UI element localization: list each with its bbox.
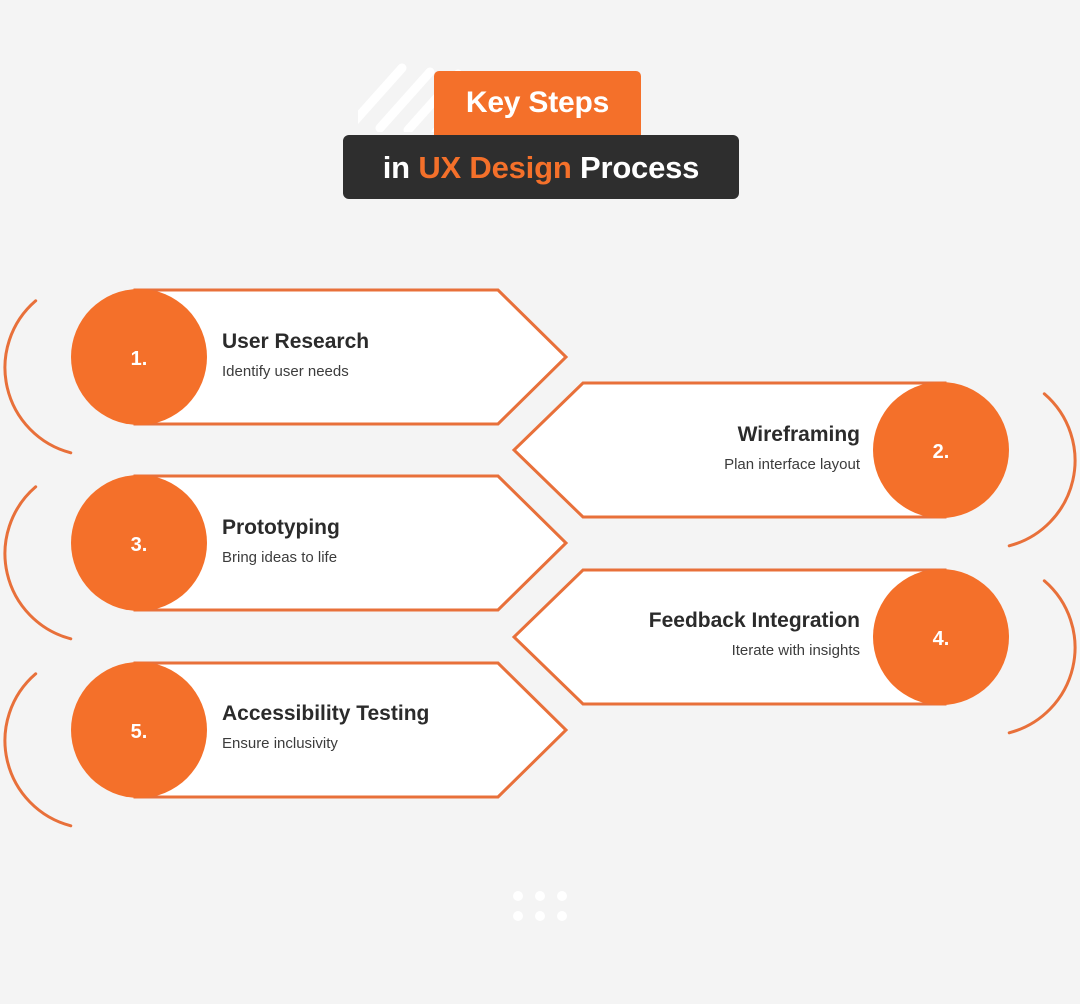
footer-dot bbox=[535, 891, 545, 901]
step-title-2: Wireframing bbox=[590, 423, 860, 447]
step-title-3: Prototyping bbox=[222, 516, 492, 540]
infographic-canvas: Key Steps in UX Design Process bbox=[0, 0, 1080, 1004]
step-arc-3 bbox=[0, 487, 71, 650]
step-text-1: User Research Identify user needs bbox=[222, 330, 492, 380]
step-title-4: Feedback Integration bbox=[570, 609, 860, 633]
step-arc-4 bbox=[1009, 581, 1080, 744]
footer-dot bbox=[557, 891, 567, 901]
step-number-2: 2. bbox=[911, 442, 971, 462]
step-subtitle-2: Plan interface layout bbox=[590, 456, 860, 473]
footer-dot bbox=[557, 911, 567, 921]
step-number-3: 3. bbox=[109, 535, 169, 555]
step-subtitle-1: Identify user needs bbox=[222, 363, 492, 380]
footer-dot-grid bbox=[513, 891, 567, 921]
step-arc-1 bbox=[0, 301, 71, 464]
step-text-4: Feedback Integration Iterate with insigh… bbox=[570, 609, 860, 659]
footer-dot bbox=[513, 911, 523, 921]
footer-dot bbox=[513, 891, 523, 901]
step-subtitle-3: Bring ideas to life bbox=[222, 549, 492, 566]
step-number-5: 5. bbox=[109, 722, 169, 742]
step-title-5: Accessibility Testing bbox=[222, 702, 512, 726]
step-title-1: User Research bbox=[222, 330, 492, 354]
step-arc-2 bbox=[1009, 394, 1080, 557]
step-subtitle-5: Ensure inclusivity bbox=[222, 735, 512, 752]
step-text-5: Accessibility Testing Ensure inclusivity bbox=[222, 702, 512, 752]
step-text-3: Prototyping Bring ideas to life bbox=[222, 516, 492, 566]
step-text-2: Wireframing Plan interface layout bbox=[590, 423, 860, 473]
step-arc-5 bbox=[0, 674, 71, 837]
steps-diagram bbox=[0, 0, 1080, 1004]
step-subtitle-4: Iterate with insights bbox=[570, 642, 860, 659]
step-number-4: 4. bbox=[911, 629, 971, 649]
step-number-1: 1. bbox=[109, 349, 169, 369]
footer-dot bbox=[535, 911, 545, 921]
